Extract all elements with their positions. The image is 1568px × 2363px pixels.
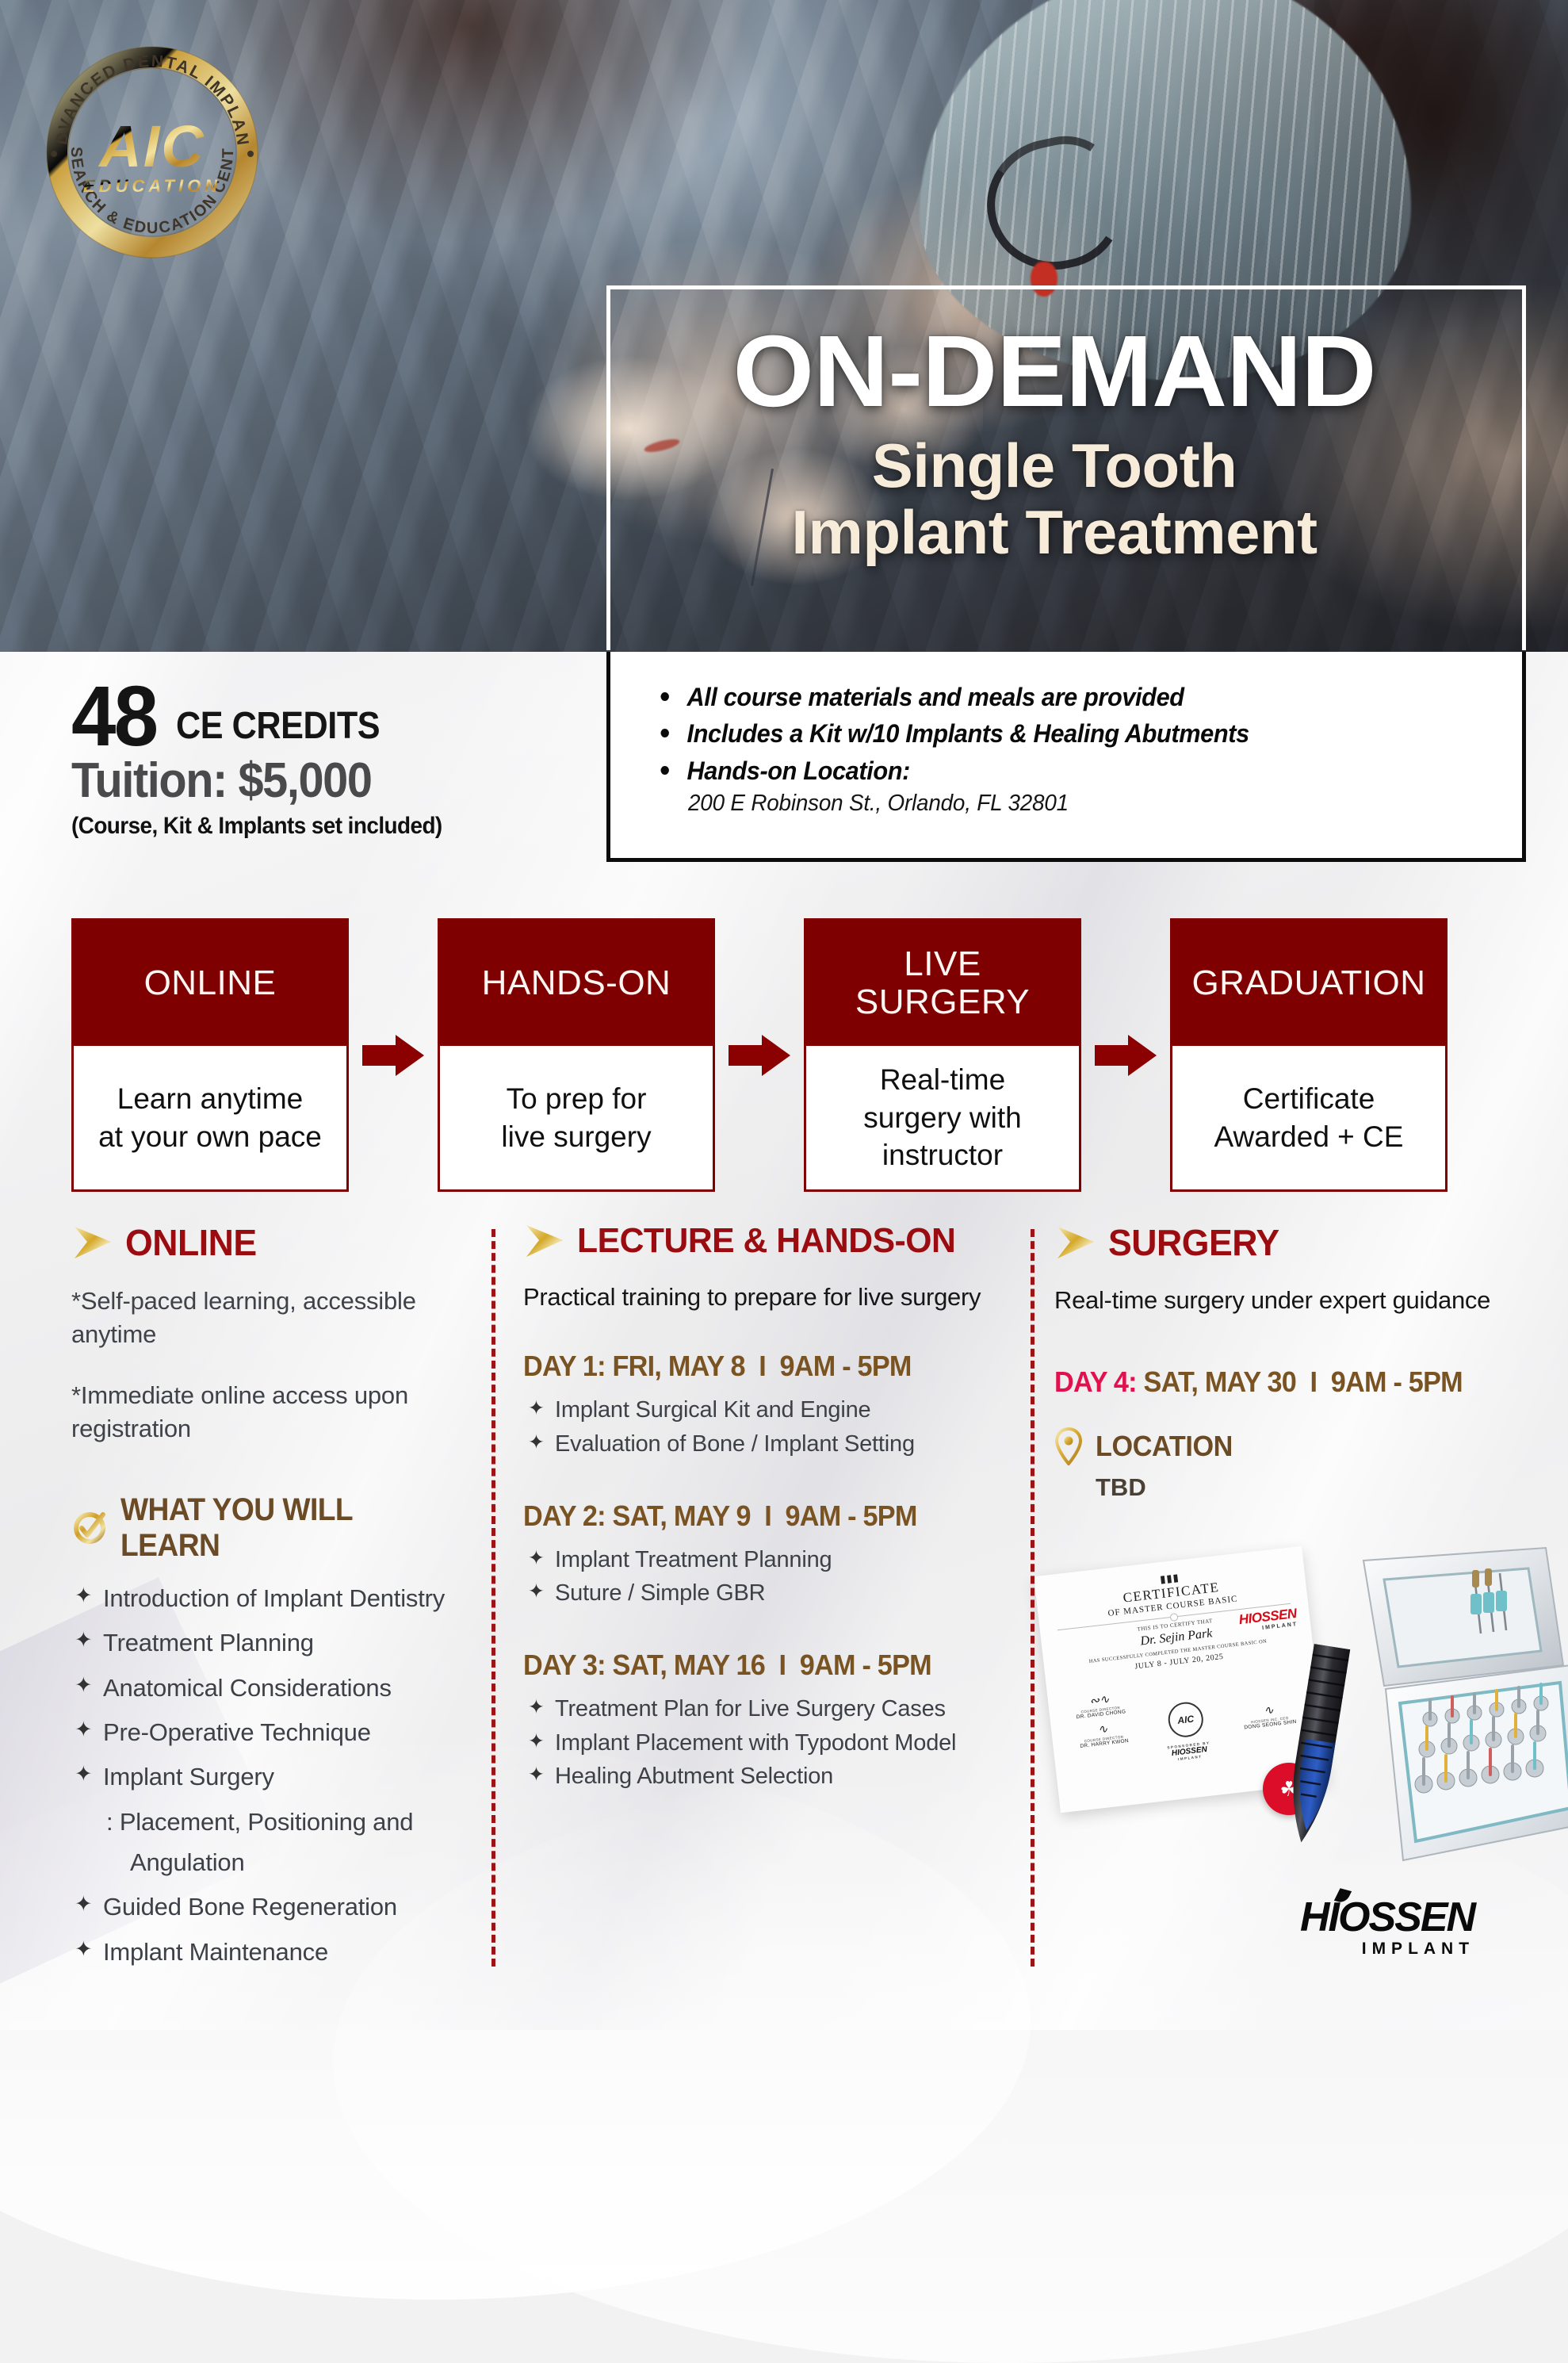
column-online: ONLINE *Self-paced learning, accessible … [71,1221,484,1982]
online-para-2: *Immediate online access upon registrati… [71,1379,484,1446]
aic-logo-seal: ADVANCED DENTAL IMPLANT RESEARCH & EDUCA… [33,33,271,271]
gold-chevron-icon [1054,1224,1097,1262]
day-2-time: 9AM - 5PM [786,1499,917,1532]
learn-item: Treatment Planning [71,1629,484,1656]
step-description: To prep forlive surgery [440,1046,713,1189]
seal-initials: AIC [98,113,205,179]
section-title-lecture: LECTURE & HANDS-ON [577,1221,955,1261]
what-you-will-learn-title: WHAT YOU WILL LEARN [120,1492,458,1564]
day-3-date: SAT, MAY 16 [613,1649,766,1681]
surgery-lead: Real-time surgery under expert guidance [1054,1285,1530,1316]
location-title: LOCATION [1096,1430,1233,1463]
day-4-separator: I [1310,1365,1318,1398]
location-pin-icon [1054,1427,1083,1465]
day-1-label: DAY 1: [523,1350,606,1382]
day-2-label: DAY 2: [523,1499,606,1532]
hiossen-logo: HIOSSEN IMPLANT [1300,1897,1474,1959]
day-3-label: DAY 3: [523,1649,606,1681]
highlight-item: Includes a Kit w/10 Implants & Healing A… [658,715,1465,752]
column-divider-2 [1031,1229,1034,1967]
online-para-1: *Self-paced learning, accessible anytime [71,1285,484,1352]
topic-item: Evaluation of Bone / Implant Setting [523,1430,1031,1460]
hiossen-logo-sub: IMPLANT [1300,1940,1474,1959]
day-1-time: 9AM - 5PM [780,1350,912,1382]
day-3-separator: I [779,1649,786,1681]
learn-item: Introduction of Implant Dentistry [71,1584,484,1612]
learn-item-sub: : Placement, Positioning and [71,1808,484,1836]
highlight-item: All course materials and meals are provi… [658,679,1465,715]
seal-subtitle: EDUCATION [83,176,221,196]
day-1-date: FRI, MAY 8 [613,1350,745,1382]
tuition-amount: Tuition: $5,000 [71,755,442,806]
topic-item: Treatment Plan for Live Surgery Cases [523,1695,1031,1725]
hero-title-line-2: Implant Treatment [610,499,1498,565]
section-title-online: ONLINE [125,1221,257,1264]
topic-item: Implant Treatment Planning [523,1545,1031,1576]
day-4-time: 9AM - 5PM [1331,1365,1463,1398]
step-title: HANDS-ON [440,921,713,1046]
ce-credit-unit: CE CREDITS [176,707,380,745]
gold-chevron-icon [71,1224,114,1262]
day-2-heading: DAY 2: SAT, MAY 9 I 9AM - 5PM [523,1499,1005,1533]
step-title: GRADUATION [1172,921,1445,1046]
day-3-heading: DAY 3: SAT, MAY 16 I 9AM - 5PM [523,1649,1005,1682]
gold-chevron-icon [523,1222,566,1260]
lecture-lead: Practical training to prepare for live s… [523,1281,1031,1313]
day-1-heading: DAY 1: FRI, MAY 8 I 9AM - 5PM [523,1350,1005,1383]
step-title: ONLINE [74,921,346,1046]
highlight-item: Hands-on Location: [658,753,1465,789]
arrow-right-icon [1095,1035,1157,1076]
step-description: Learn anytimeat your own pace [74,1046,346,1189]
day-4-label: DAY 4: [1054,1365,1137,1398]
check-circle-icon [71,1510,108,1546]
learn-item: Anatomical Considerations [71,1674,484,1702]
section-title-surgery: SURGERY [1108,1221,1279,1264]
process-flow: ONLINE Learn anytimeat your own pace HAN… [71,918,1498,1192]
day-3-topics: Treatment Plan for Live Surgery Cases Im… [523,1695,1031,1792]
day-1-topics: Implant Surgical Kit and Engine Evaluati… [523,1396,1031,1459]
learn-item: Implant Maintenance [71,1938,484,1966]
column-surgery: SURGERY Real-time surgery under expert g… [1054,1221,1530,1502]
step-title: LIVESURGERY [806,921,1079,1046]
step-description: Real-timesurgery withinstructor [806,1046,1079,1189]
column-divider-1 [491,1229,495,1967]
flow-arrow-3 [1081,918,1170,1192]
process-step-hands-on[interactable]: HANDS-ON To prep forlive surgery [438,918,715,1192]
ce-credit-number: 48 [71,678,156,753]
step-description: CertificateAwarded + CE [1172,1046,1445,1189]
topic-item: Suture / Simple GBR [523,1579,1031,1609]
location-value: TBD [1096,1473,1530,1502]
arrow-right-icon [362,1035,424,1076]
process-step-graduation[interactable]: GRADUATION CertificateAwarded + CE [1170,918,1448,1192]
hero-title-line-1: Single Tooth [610,432,1498,499]
arrow-right-icon [729,1035,790,1076]
topic-item: Healing Abutment Selection [523,1762,1031,1792]
day-4-date: SAT, MAY 30 [1144,1365,1297,1398]
learn-item: Implant Surgery [71,1763,484,1790]
day-4-heading: DAY 4: SAT, MAY 30 I 9AM - 5PM [1054,1365,1506,1399]
flow-arrow-2 [715,918,804,1192]
process-step-online[interactable]: ONLINE Learn anytimeat your own pace [71,918,349,1192]
day-3-time: 9AM - 5PM [800,1649,931,1681]
flow-arrow-1 [349,918,438,1192]
highlights-box: All course materials and meals are provi… [606,652,1526,862]
learn-item-sub: Angulation [71,1848,484,1876]
hero-title-frame: ON-DEMAND Single Tooth Implant Treatment [606,285,1526,650]
column-lecture-hands-on: LECTURE & HANDS-ON Practical training to… [523,1221,1031,1796]
hands-on-address: 200 E Robinson St., Orlando, FL 32801 [688,791,1466,817]
hiossen-logo-main: HIOSSEN [1300,1894,1474,1940]
day-2-topics: Implant Treatment Planning Suture / Simp… [523,1545,1031,1609]
learn-item: Pre-Operative Technique [71,1718,484,1746]
day-1-separator: I [759,1350,766,1382]
learn-item: Guided Bone Regeneration [71,1893,484,1921]
tuition-note: (Course, Kit & Implants set included) [71,813,442,840]
day-2-separator: I [764,1499,771,1532]
topic-item: Implant Surgical Kit and Engine [523,1396,1031,1426]
ce-credits-block: 48 CE CREDITS Tuition: $5,000 (Course, K… [71,678,470,840]
learn-list: Introduction of Implant Dentistry Treatm… [71,1584,484,1966]
process-step-live-surgery[interactable]: LIVESURGERY Real-timesurgery withinstruc… [804,918,1081,1192]
highlights-list: All course materials and meals are provi… [658,679,1498,789]
hero-kicker: ON-DEMAND [597,321,1512,423]
day-2-date: SAT, MAY 9 [613,1499,751,1532]
topic-item: Implant Placement with Typodont Model [523,1729,1031,1759]
